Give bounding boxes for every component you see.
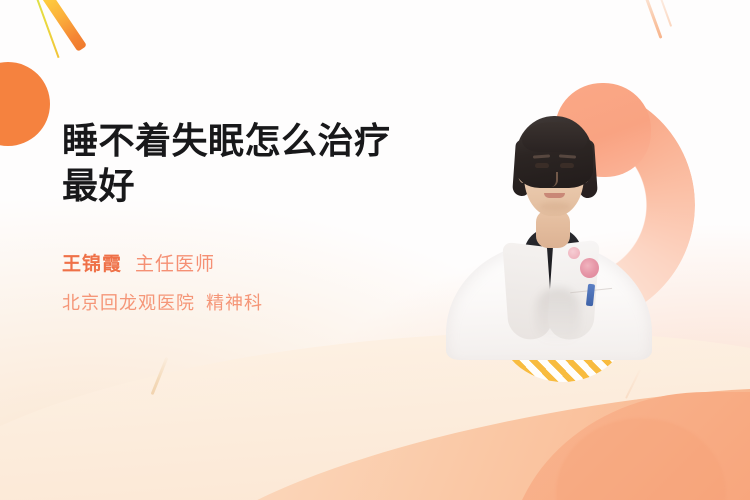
portrait-badge-secondary-icon bbox=[568, 247, 580, 259]
doctor-hospital: 北京回龙观医院 bbox=[62, 289, 195, 315]
doctor-department: 精神科 bbox=[206, 289, 263, 315]
doctor-byline: 王锦霞 主任医师 bbox=[62, 249, 422, 276]
doctor-portrait bbox=[432, 92, 662, 354]
portrait-mouth bbox=[544, 193, 565, 198]
portrait-eye-left bbox=[535, 163, 549, 168]
text-block: 睡不着失眠怎么治疗最好 王锦霞 主任医师 北京回龙观医院 精神科 bbox=[62, 118, 422, 315]
doctor-affiliation: 北京回龙观医院 精神科 bbox=[62, 289, 422, 315]
doctor-info-card: 睡不着失眠怎么治疗最好 王锦霞 主任医师 北京回龙观医院 精神科 bbox=[0, 0, 750, 500]
portrait-eye-right bbox=[560, 163, 574, 168]
doctor-name: 王锦霞 bbox=[62, 249, 122, 276]
page-title: 睡不着失眠怎么治疗最好 bbox=[62, 118, 422, 209]
portrait-chin-shadow bbox=[540, 202, 570, 211]
portrait-badge-icon bbox=[580, 258, 599, 278]
portrait-fringe bbox=[522, 122, 587, 152]
doctor-professional-title: 主任医师 bbox=[135, 249, 215, 276]
